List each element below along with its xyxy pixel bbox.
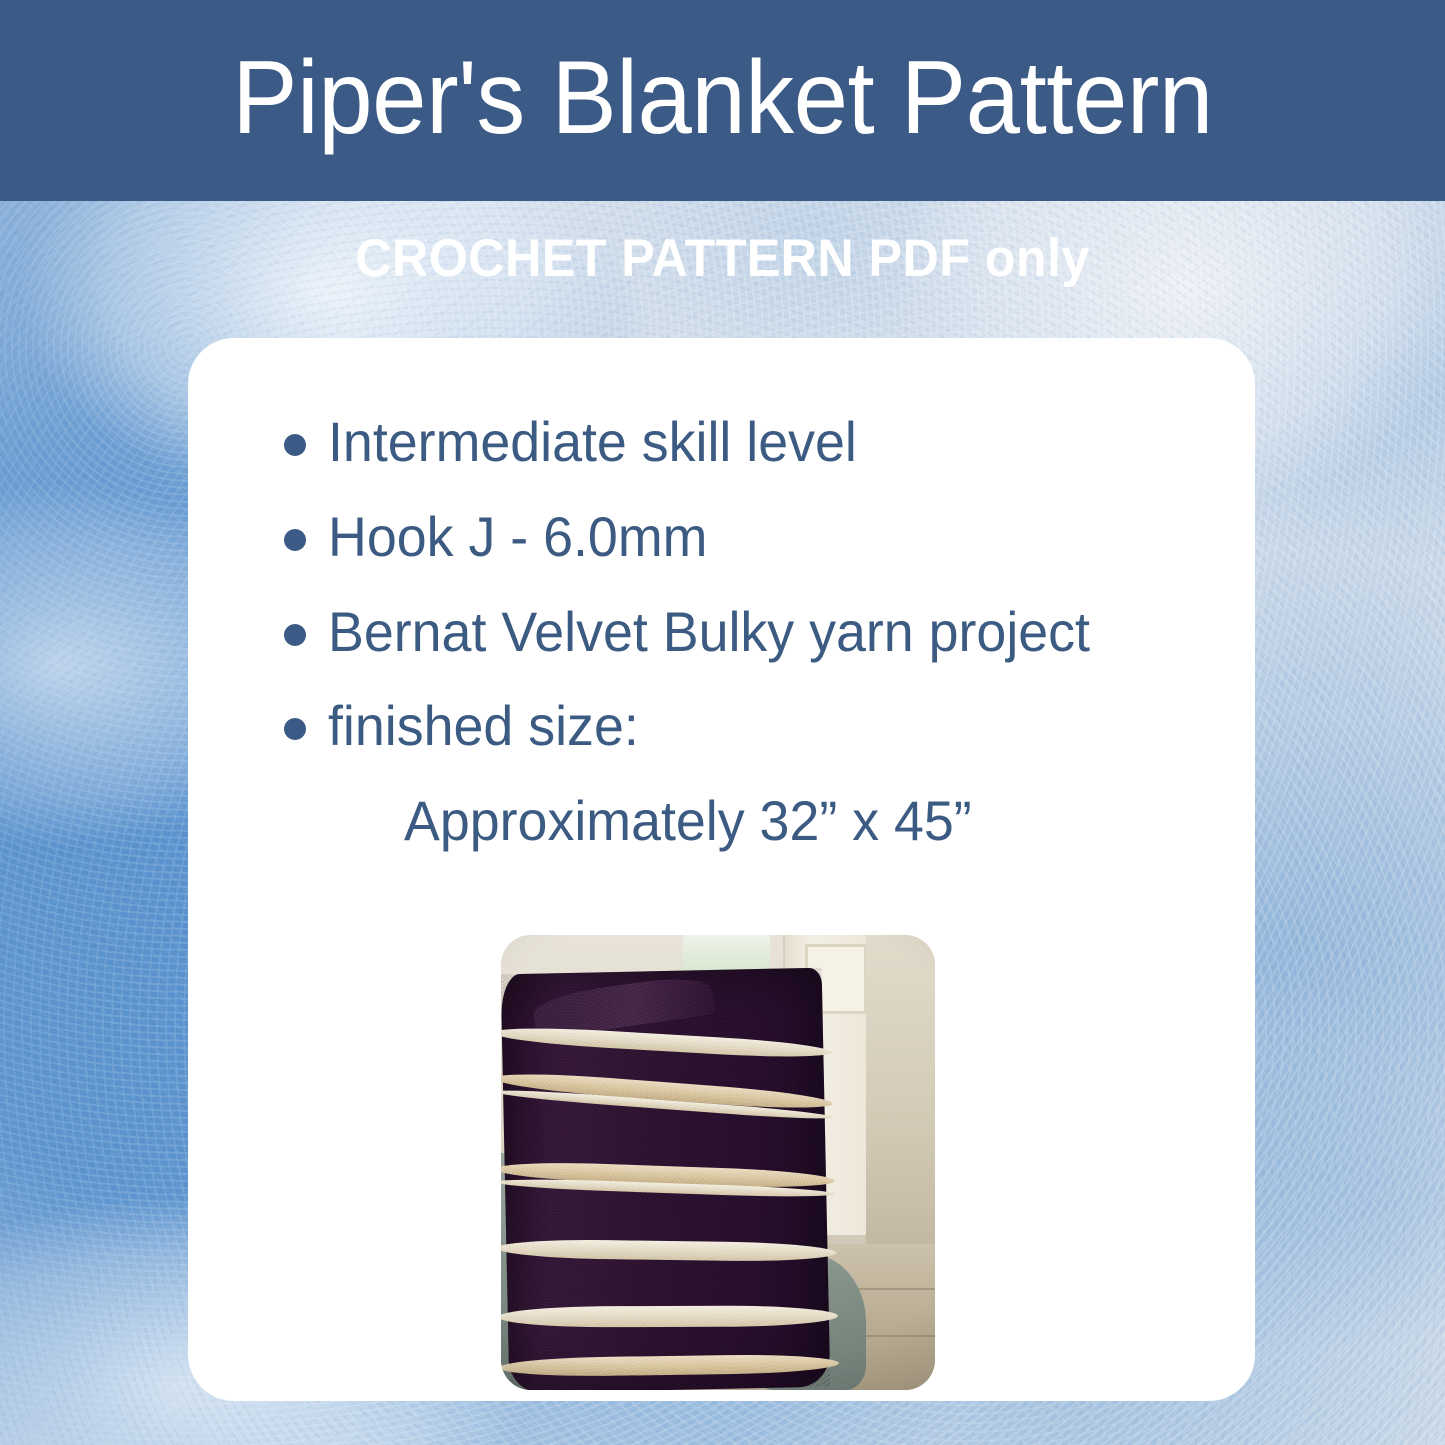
bullet-dot-icon: [284, 718, 306, 740]
list-item: Intermediate skill level: [284, 406, 1224, 479]
product-photo: [501, 935, 935, 1390]
list-item-label: Intermediate skill level: [328, 406, 857, 479]
list-item: Hook J - 6.0mm: [284, 501, 1224, 574]
details-card: Intermediate skill level Hook J - 6.0mm …: [188, 338, 1255, 1401]
list-item-label: Hook J - 6.0mm: [328, 501, 707, 574]
header-band: Piper's Blanket Pattern: [0, 0, 1445, 201]
finished-size-value: Approximately 32” x 45”: [404, 785, 1191, 858]
list-item: Bernat Velvet Bulky yarn project: [284, 596, 1224, 669]
list-item-label: finished size:: [328, 690, 639, 763]
list-item-label: Bernat Velvet Bulky yarn project: [328, 596, 1090, 669]
photo-vignette: [501, 935, 935, 1390]
subtitle-text: CROCHET PATTERN PDF only: [36, 228, 1409, 289]
list-item: finished size:: [284, 690, 1224, 763]
feature-bullet-list: Intermediate skill level Hook J - 6.0mm …: [284, 406, 1224, 858]
bullet-dot-icon: [284, 624, 306, 646]
page-title: Piper's Blanket Pattern: [232, 46, 1213, 150]
pattern-listing-graphic: Piper's Blanket Pattern CROCHET PATTERN …: [0, 0, 1445, 1445]
bullet-dot-icon: [284, 529, 306, 551]
bullet-dot-icon: [284, 434, 306, 456]
